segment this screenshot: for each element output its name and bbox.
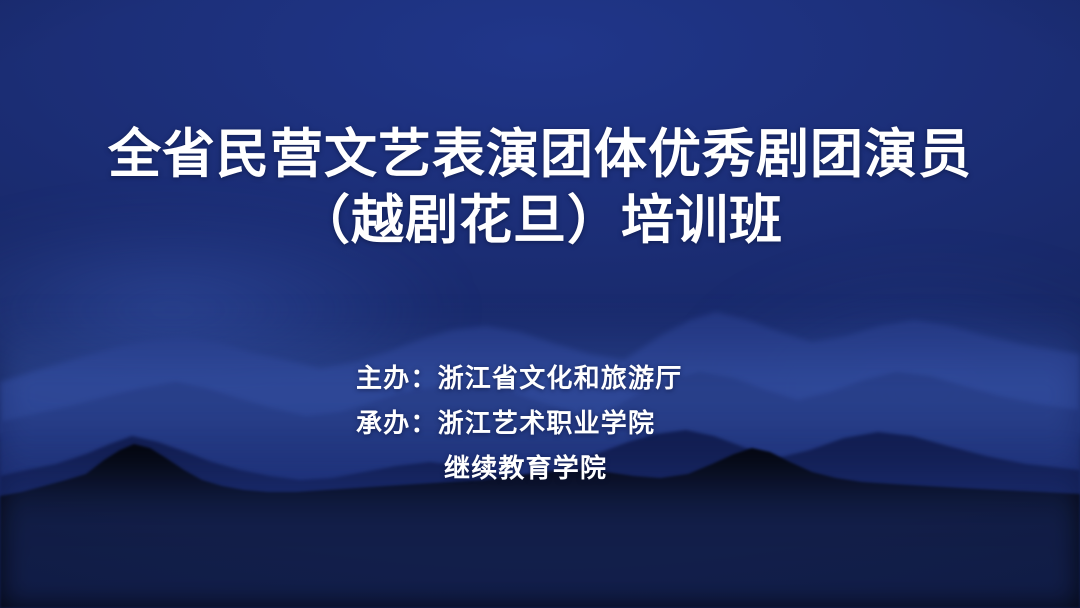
poster-content: 全省民营文艺表演团体优秀剧团演员 （越剧花旦）培训班 主办：浙江省文化和旅游厅 … — [0, 0, 1080, 608]
poster-title: 全省民营文艺表演团体优秀剧团演员 （越剧花旦）培训班 — [0, 122, 1080, 254]
credit-line-host: 承办：浙江艺术职业学院 — [356, 401, 682, 446]
title-line-2: （越剧花旦）培训班 — [0, 188, 1080, 254]
title-line-1: 全省民营文艺表演团体优秀剧团演员 — [0, 122, 1080, 188]
credit-line-department: 继续教育学院 — [356, 446, 682, 491]
credit-line-organizer: 主办：浙江省文化和旅游厅 — [356, 356, 682, 401]
poster-slide: 全省民营文艺表演团体优秀剧团演员 （越剧花旦）培训班 主办：浙江省文化和旅游厅 … — [0, 0, 1080, 608]
poster-credits: 主办：浙江省文化和旅游厅 承办：浙江艺术职业学院 继续教育学院 — [356, 356, 682, 491]
